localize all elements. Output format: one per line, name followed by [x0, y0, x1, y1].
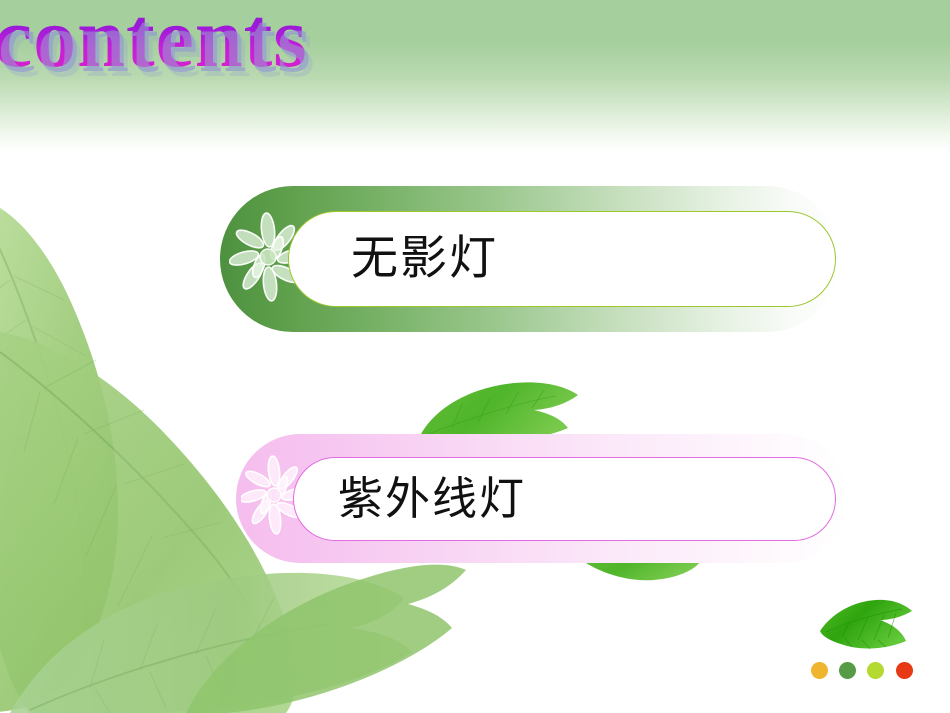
option-label-box-1[interactable]: 无影灯 — [288, 211, 836, 307]
dot-red — [896, 662, 913, 679]
dot-lime — [867, 662, 884, 679]
option-label-2: 紫外线灯 — [294, 477, 526, 522]
option-label-box-2[interactable]: 紫外线灯 — [293, 457, 836, 541]
dot-amber — [811, 662, 828, 679]
page-title: contents — [0, 0, 308, 80]
leaf-icon — [818, 595, 914, 655]
slide-canvas: contents 无影灯 — [0, 0, 950, 713]
dot-green — [839, 662, 856, 679]
dot-row — [811, 662, 931, 680]
option-label-1: 无影灯 — [289, 236, 498, 283]
